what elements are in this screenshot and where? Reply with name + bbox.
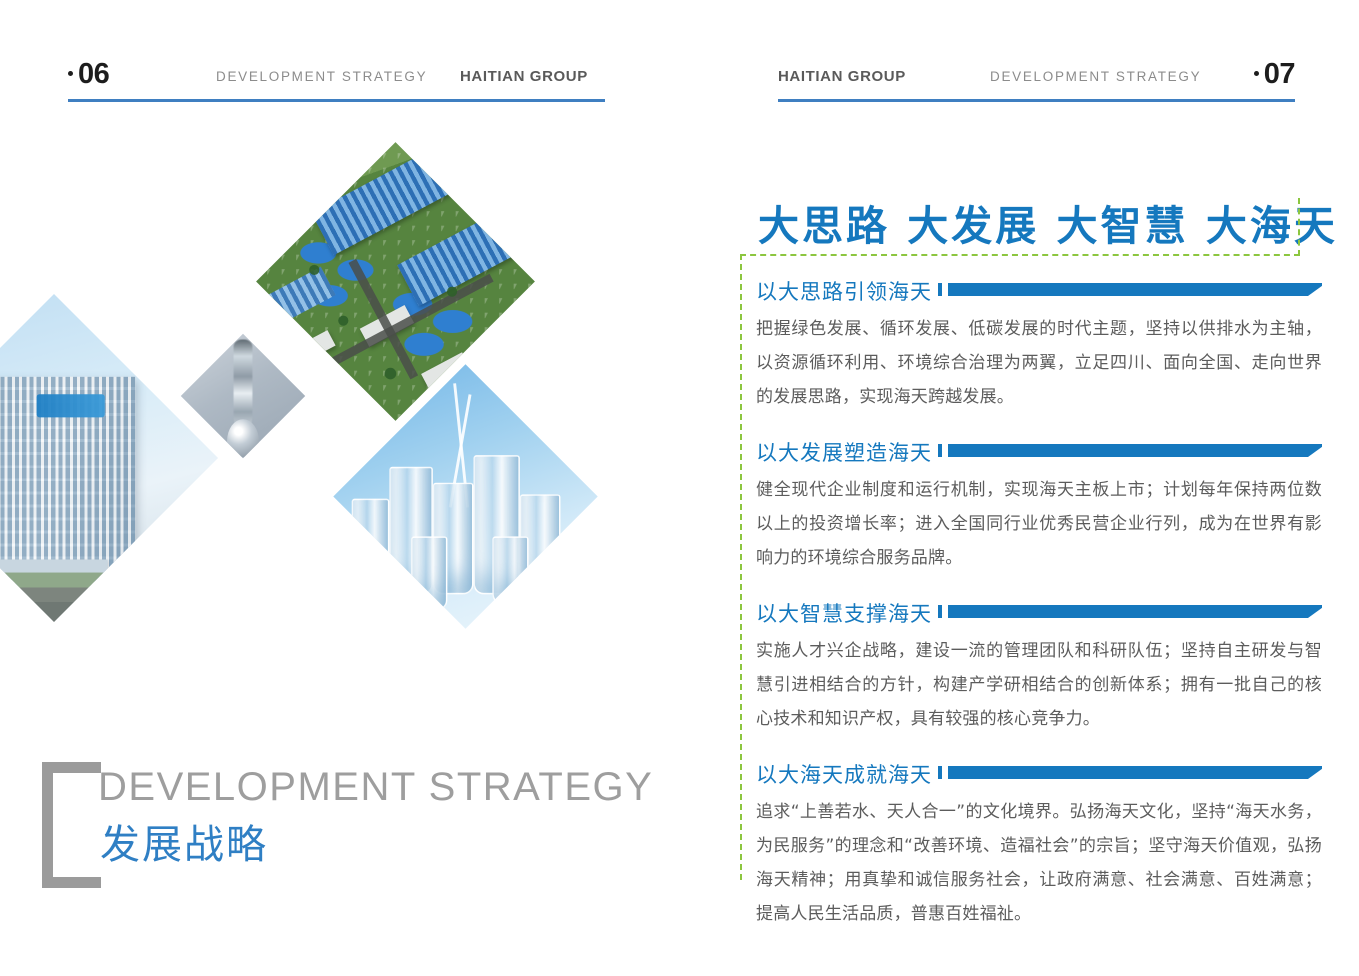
section-bar-tick [938,605,942,618]
right-header-rule [778,99,1295,102]
page-headline: 大思路 大发展 大智慧 大海天 [758,192,1338,252]
green-dashed-frame-top [740,254,1300,256]
section-heading-row: 以大海天成就海天 [756,759,1322,789]
section-title: 以大海天成就海天 [756,759,932,789]
section-body: 追求“上善若水、天人合一”的文化境界。弘扬海天文化，坚持“海天水务，为民服务”的… [756,795,1322,931]
left-page-number-text: 06 [78,58,109,90]
photo-office-building-exterior [0,294,218,622]
left-page-header: 06 DEVELOPMENT STRATEGY HAITIAN GROUP [68,62,605,102]
section-bar [948,766,1322,779]
left-header-brand: HAITIAN GROUP [460,68,588,85]
right-page-number-text: 07 [1264,58,1295,90]
section-body: 健全现代企业制度和运行机制，实现海天主板上市；计划每年保持两位数以上的投资增长率… [756,473,1322,575]
page-title-english: DEVELOPMENT STRATEGY [98,765,653,810]
right-header-brand: HAITIAN GROUP [778,68,906,85]
section-body: 实施人才兴企战略，建设一流的管理团队和科研队伍；坚持自主研发与智慧引进相结合的方… [756,634,1322,736]
diamond-photo-collage [0,150,600,650]
left-page-number: 06 [68,58,109,91]
left-header-section-label: DEVELOPMENT STRATEGY [216,69,427,84]
section-bar-tick [938,766,942,779]
strategy-section-list: 以大思路引领海天 把握绿色发展、循环发展、低碳发展的时代主题，坚持以供排水为主轴… [756,276,1322,954]
page-number-dot-icon [1254,71,1259,76]
green-dashed-frame-left [740,254,742,880]
section-bar [948,605,1322,618]
brochure-spread: 06 DEVELOPMENT STRATEGY HAITIAN GROUP HA… [0,0,1359,976]
strategy-section: 以大思路引领海天 把握绿色发展、循环发展、低碳发展的时代主题，坚持以供排水为主轴… [756,276,1322,414]
section-bar [948,283,1322,296]
section-bar-tick [938,444,942,457]
section-title: 以大发展塑造海天 [756,437,932,467]
right-page-header: HAITIAN GROUP DEVELOPMENT STRATEGY 07 [778,62,1295,102]
left-header-rule [68,99,605,102]
page-title-chinese: 发展战略 [100,812,268,870]
left-page-title-block: DEVELOPMENT STRATEGY 发展战略 [42,762,602,872]
section-bar [948,444,1322,457]
section-body: 把握绿色发展、循环发展、低碳发展的时代主题，坚持以供排水为主轴，以资源循环利用、… [756,312,1322,414]
section-heading-row: 以大智慧支撑海天 [756,598,1322,628]
photo-water-treatment-plant-aerial [256,142,535,421]
page-number-dot-icon [68,71,73,76]
strategy-section: 以大发展塑造海天 健全现代企业制度和运行机制，实现海天主板上市；计划每年保持两位… [756,437,1322,575]
strategy-section: 以大智慧支撑海天 实施人才兴企战略，建设一流的管理团队和科研队伍；坚持自主研发与… [756,598,1322,736]
right-header-section-label: DEVELOPMENT STRATEGY [990,69,1201,84]
section-heading-row: 以大思路引领海天 [756,276,1322,306]
photo-laboratory-glassware [333,364,597,628]
right-page-number: 07 [1254,58,1295,91]
section-bar-tick [938,283,942,296]
strategy-section: 以大海天成就海天 追求“上善若水、天人合一”的文化境界。弘扬海天文化，坚持“海天… [756,759,1322,931]
section-title: 以大思路引领海天 [756,276,932,306]
green-dashed-frame-right [1298,198,1300,256]
section-heading-row: 以大发展塑造海天 [756,437,1322,467]
section-title: 以大智慧支撑海天 [756,598,932,628]
bracket-icon [42,762,101,888]
